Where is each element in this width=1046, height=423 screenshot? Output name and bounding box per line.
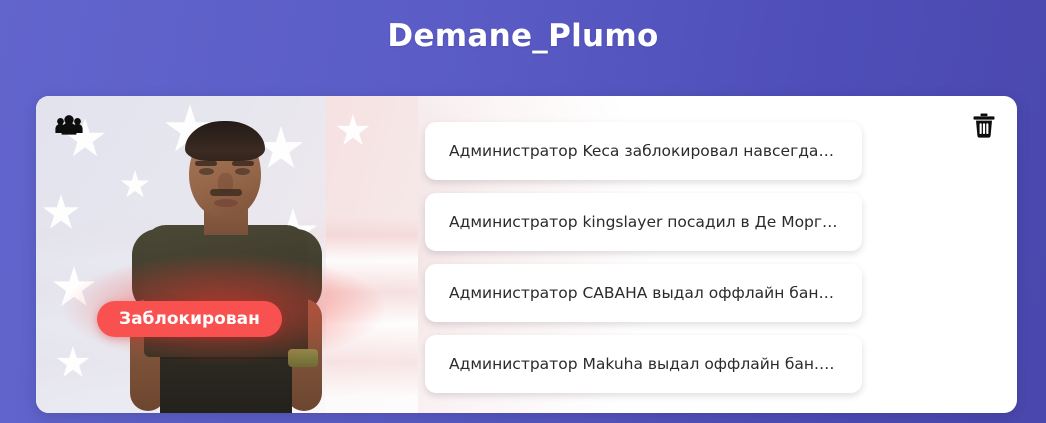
- character-moustache: [210, 189, 242, 196]
- page-title: Demane_Plumo: [0, 18, 1046, 54]
- log-item[interactable]: Администратор Makuha выдал оффлайн бан. …: [425, 335, 862, 393]
- log-item-text: Администратор Makuha выдал оффлайн бан. …: [449, 355, 838, 373]
- character-mouth: [214, 199, 238, 207]
- punishment-log-list: Администратор Keca заблокировал навсегда…: [425, 122, 862, 393]
- log-item-text: Администратор Keca заблокировал навсегда…: [449, 142, 838, 160]
- status-badge: Заблокирован: [97, 301, 282, 337]
- character-brow-right: [232, 161, 254, 166]
- profile-card: Заблокирован Администратор Keca заблокир…: [36, 96, 1017, 413]
- log-item[interactable]: Администратор Keca заблокировал навсегда…: [425, 122, 862, 180]
- character-hair: [185, 121, 265, 161]
- log-item-text: Администратор САВАНА выдал оффлайн бан. …: [449, 284, 838, 302]
- character-render: [96, 113, 358, 413]
- trash-icon[interactable]: [967, 110, 1001, 140]
- log-item[interactable]: Администратор kingslayer посадил в Де Мо…: [425, 193, 862, 251]
- users-group-icon[interactable]: [52, 110, 86, 140]
- character-watch: [288, 349, 318, 367]
- character-brow-left: [195, 161, 217, 166]
- log-item[interactable]: Администратор САВАНА выдал оффлайн бан. …: [425, 264, 862, 322]
- avatar-panel: Заблокирован: [36, 96, 418, 413]
- character-legs: [160, 351, 292, 413]
- character-torso: [144, 225, 308, 357]
- character-eye-right: [235, 168, 250, 175]
- log-item-text: Администратор kingslayer посадил в Де Мо…: [449, 213, 838, 231]
- character-eye-left: [199, 168, 214, 175]
